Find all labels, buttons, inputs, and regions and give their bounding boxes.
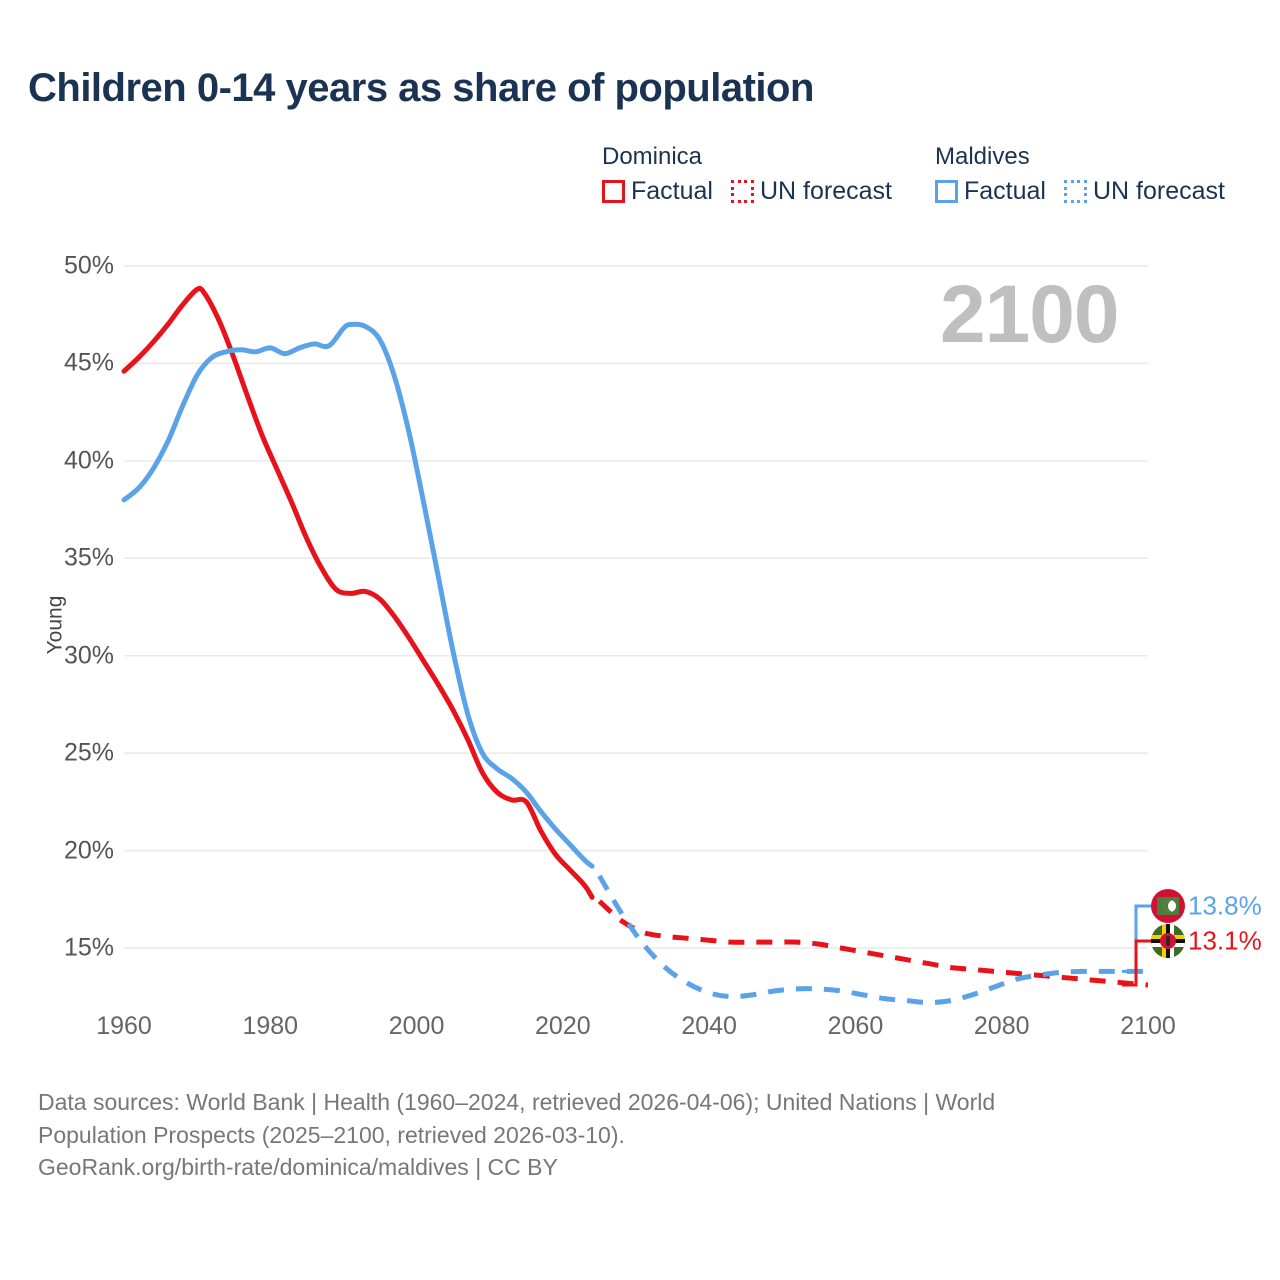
x-axis-tick-label: 2060 [828, 1012, 884, 1041]
footer: Data sources: World Bank | Health (1960–… [38, 1086, 1218, 1184]
maldives-flag-icon [1151, 889, 1185, 923]
x-axis-tick-label: 1960 [96, 1012, 152, 1041]
y-axis-tick-label: 40% [28, 446, 114, 475]
y-axis-tick-label: 30% [28, 641, 114, 670]
x-axis-tick-label: 2080 [974, 1012, 1030, 1041]
series-line-factual-maldives[interactable] [124, 324, 592, 866]
y-axis-tick-label: 45% [28, 349, 114, 378]
x-axis-tick-label: 1980 [242, 1012, 298, 1041]
footer-line-attribution: GeoRank.org/birth-rate/dominica/maldives… [38, 1151, 1218, 1184]
series-line-forecast-dominica[interactable] [599, 901, 1148, 985]
y-axis-tick-label: 15% [28, 934, 114, 963]
x-axis-tick-label: 2040 [681, 1012, 737, 1041]
x-axis-tick-label: 2020 [535, 1012, 591, 1041]
x-axis-tick-label: 2100 [1120, 1012, 1176, 1041]
y-axis-tick-label: 20% [28, 836, 114, 865]
footer-line-sources-2: Population Prospects (2025–2100, retriev… [38, 1119, 1218, 1152]
end-label-maldives: 13.8% [1188, 891, 1262, 922]
footer-line-sources-1: Data sources: World Bank | Health (1960–… [38, 1086, 1218, 1119]
y-axis-tick-label: 35% [28, 544, 114, 573]
x-axis-tick-label: 2000 [389, 1012, 445, 1041]
dominica-flag-icon [1151, 924, 1185, 958]
y-axis-tick-label: 50% [28, 252, 114, 281]
y-axis-tick-label: 25% [28, 739, 114, 768]
end-label-dominica: 13.1% [1188, 926, 1262, 957]
